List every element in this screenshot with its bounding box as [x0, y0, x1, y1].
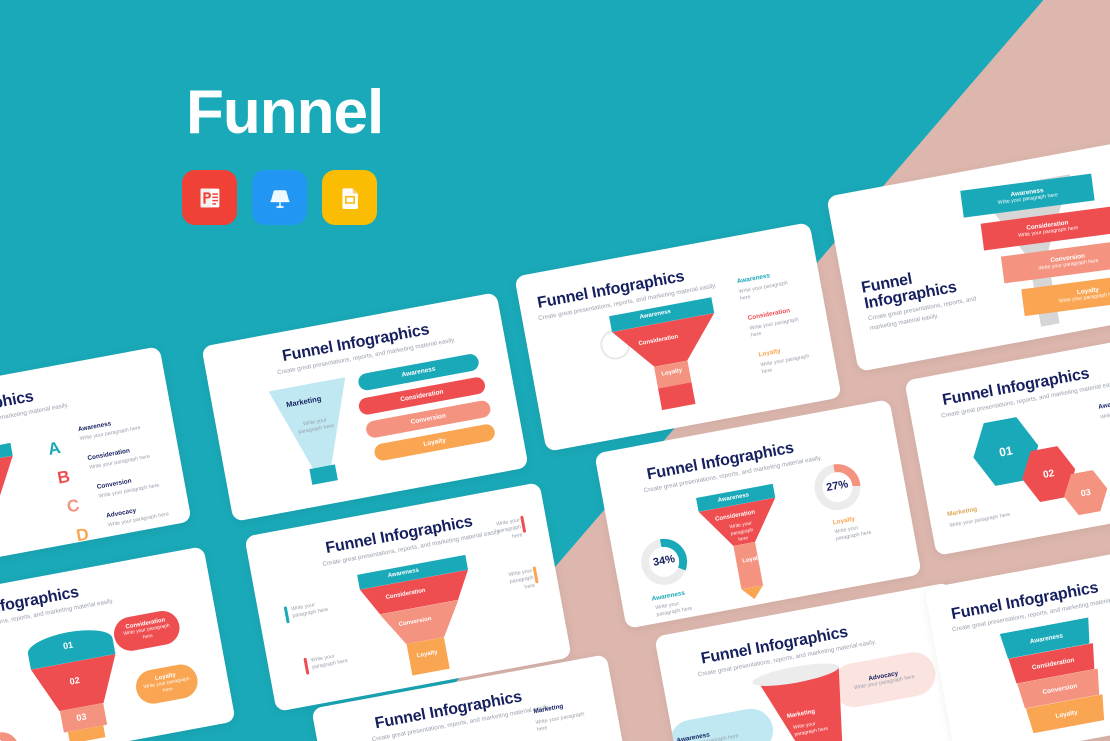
note-paragraph-2: Write your paragraph here	[310, 651, 352, 673]
slide-numbered-funnel-pills[interactable]: Funnel Infographics Create great present…	[0, 546, 236, 741]
step-letter-a: A	[47, 438, 63, 460]
keynote-icon[interactable]	[252, 170, 307, 225]
hexagon-number-01: 01	[998, 443, 1014, 459]
step-letter-d: D	[75, 524, 91, 546]
note-paragraph-1: Write your paragraph here	[291, 599, 333, 621]
slide-stacked-trapezoids[interactable]: Funnel Infographics Create great present…	[924, 534, 1110, 741]
band-label-conversion: Conversion	[1042, 682, 1078, 695]
band-label-consideration: Consideration	[1031, 656, 1075, 671]
google-slides-icon[interactable]	[322, 170, 377, 225]
footer-label-marketing: Marketing	[947, 506, 978, 518]
pill-awareness[interactable]: Awareness Write your paragraph here	[666, 705, 776, 741]
funnel-segment-loyalty	[733, 542, 763, 589]
pill-label-loyalty: Loyalty	[423, 437, 447, 448]
pill-label-awareness: Awareness	[401, 366, 436, 379]
app-icons-row	[182, 170, 377, 225]
funnel-step-number-01: 01	[62, 640, 74, 652]
step-letter-b: B	[56, 467, 72, 489]
note-paragraph-4: Write your paragraph here	[496, 568, 535, 596]
funnel-step-number-03: 03	[76, 711, 88, 723]
funnel-marketing-stem	[309, 464, 337, 484]
slide-gray-funnel-banners[interactable]: Funnel Infographics Create great present…	[826, 142, 1110, 372]
slide-pills-funnel[interactable]: Funnel Infographics Create great present…	[201, 292, 528, 522]
pill-loyalty[interactable]: Loyalty Write your paragraph here	[133, 662, 200, 707]
hexagon-number-03: 03	[1080, 487, 1092, 499]
legend-label-awareness: Awareness	[1098, 398, 1110, 411]
slide-hexagon-steps[interactable]: Funnel Infographics Create great present…	[904, 326, 1110, 556]
pill-label-conversion: Conversion	[410, 412, 446, 425]
hexagon-number-02: 02	[1042, 468, 1055, 481]
donut-label-loyalty: Loyalty	[832, 515, 855, 526]
note-tick-2	[303, 658, 309, 675]
pill-advocacy[interactable]: Advocacy Write your paragraph here	[829, 649, 939, 711]
step-letter-c: C	[65, 496, 81, 518]
pill-conversion[interactable]: Conversion Write your paragraph here	[0, 729, 22, 741]
legend-label-loyalty: Loyalty	[758, 348, 781, 359]
pill-label-consideration: Consideration	[400, 389, 444, 404]
funnel-segment-consideration	[0, 456, 22, 523]
slide-abcd-legend[interactable]: Funnel Infographics Create great present…	[0, 346, 192, 576]
hero-section: Funnel	[0, 0, 640, 250]
funnel-step-number-02: 02	[69, 675, 81, 687]
band-label-awareness: Awareness	[1029, 632, 1063, 645]
funnel-stem	[658, 382, 695, 410]
page-title: Funnel	[186, 82, 383, 144]
note-tick-1	[284, 606, 290, 623]
band-label-loyalty: Loyalty	[1055, 709, 1078, 720]
pill-consideration[interactable]: Consideration Write your paragraph here	[111, 608, 182, 653]
powerpoint-icon[interactable]	[182, 170, 237, 225]
note-paragraph-3: Write your paragraph here	[484, 517, 523, 545]
